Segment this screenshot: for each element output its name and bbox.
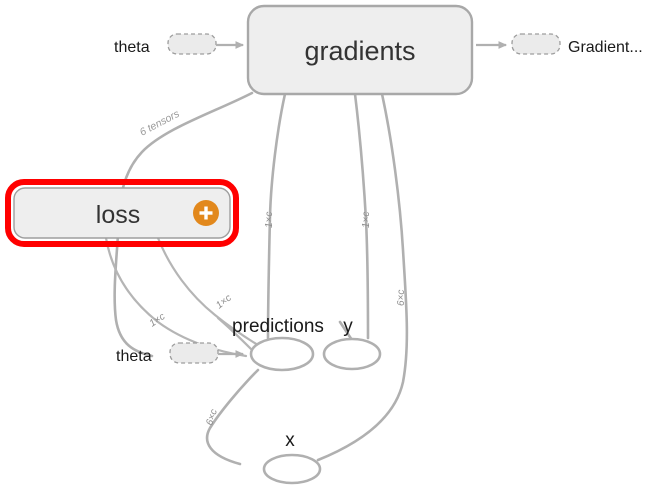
dashed-chip-icon[interactable] — [512, 34, 560, 54]
loss-label: loss — [96, 201, 140, 229]
y-ellipse[interactable] — [324, 339, 380, 369]
expand-plus-icon[interactable] — [193, 200, 219, 226]
edge-label-one-by-c-d: 1×c — [214, 293, 234, 312]
gradients-label: gradients — [304, 36, 415, 66]
node-gradients[interactable]: gradients — [248, 6, 472, 94]
theta-mid-label: theta — [116, 348, 152, 365]
edge-gradients-to-x[interactable] — [318, 94, 407, 460]
edge-label-one-by-c-b: 1×c — [361, 212, 372, 228]
edge-label-six-by-c-b: 6×c — [204, 408, 220, 427]
gradient-output[interactable]: Gradient... — [476, 34, 643, 56]
theta-top-label: theta — [114, 39, 150, 56]
predictions-label: predictions — [232, 316, 324, 337]
dashed-chip-icon[interactable] — [170, 343, 218, 363]
predictions-ellipse[interactable] — [251, 338, 313, 370]
theta-mid-input[interactable]: theta — [116, 343, 243, 365]
edge-label-one-by-c-a: 1×c — [264, 212, 275, 228]
x-ellipse[interactable] — [264, 455, 320, 483]
node-y[interactable]: y — [324, 316, 380, 369]
edge-label-six-by-c-a: 6×c — [396, 290, 407, 306]
node-loss[interactable]: loss — [8, 182, 236, 244]
edge-label-six-tensors: 6 tensors — [138, 107, 182, 138]
theta-top-input[interactable]: theta — [114, 34, 243, 56]
y-label: y — [343, 316, 353, 337]
gradient-out-label: Gradient... — [568, 39, 643, 56]
node-x[interactable]: x — [264, 430, 320, 483]
edge-layer — [106, 93, 407, 464]
x-label: x — [285, 430, 295, 451]
dashed-chip-icon[interactable] — [168, 34, 216, 54]
computation-graph-canvas[interactable]: 6 tensors 1×c 1×c 6×c 1×c 1×c 6×c theta … — [0, 0, 651, 485]
